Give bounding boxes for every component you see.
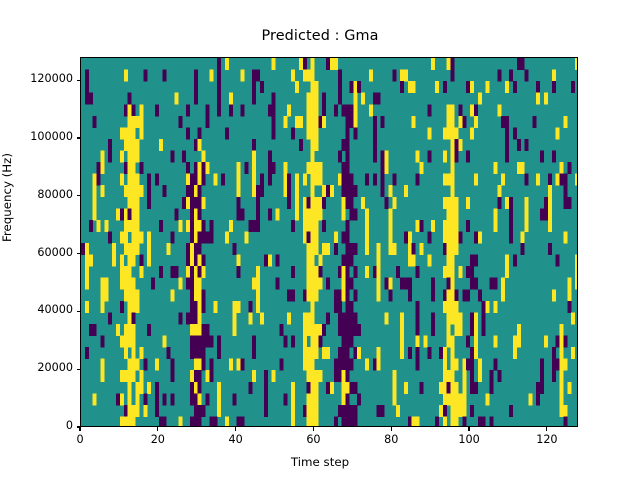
x-tick-label: 20 bbox=[151, 433, 165, 446]
x-tick-label: 0 bbox=[76, 433, 83, 446]
y-tick-label: 60000 bbox=[37, 246, 73, 259]
y-tick-label: 120000 bbox=[30, 72, 73, 85]
x-axis-label: Time step bbox=[0, 455, 640, 469]
x-tick-mark bbox=[235, 427, 236, 431]
x-tick-label: 80 bbox=[384, 433, 398, 446]
x-tick-mark bbox=[313, 427, 314, 431]
x-tick-mark bbox=[157, 427, 158, 431]
y-tick-label: 20000 bbox=[37, 361, 73, 374]
x-tick-mark bbox=[79, 427, 80, 431]
heatmap-plot-area[interactable] bbox=[80, 57, 578, 427]
y-tick-label: 40000 bbox=[37, 303, 73, 316]
x-tick-mark bbox=[546, 427, 547, 431]
x-tick-label: 40 bbox=[229, 433, 243, 446]
x-tick-label: 60 bbox=[306, 433, 320, 446]
y-axis: Frequency (Hz) 0200004000060000800001000… bbox=[0, 0, 80, 480]
heatmap-canvas bbox=[81, 58, 578, 427]
y-axis-label: Frequency (Hz) bbox=[0, 153, 14, 242]
x-tick-mark bbox=[391, 427, 392, 431]
y-tick-label: 100000 bbox=[30, 130, 73, 143]
page-title: Predicted : Gma bbox=[0, 28, 640, 44]
y-tick-label: 80000 bbox=[37, 188, 73, 201]
x-tick-label: 100 bbox=[458, 433, 479, 446]
x-tick-label: 120 bbox=[536, 433, 557, 446]
x-axis: Time step 020406080100120 bbox=[0, 427, 640, 480]
y-tick-label: 0 bbox=[66, 419, 73, 432]
matplotlib-figure: Predicted : Gma Frequency (Hz) 020000400… bbox=[0, 0, 640, 480]
x-tick-mark bbox=[468, 427, 469, 431]
